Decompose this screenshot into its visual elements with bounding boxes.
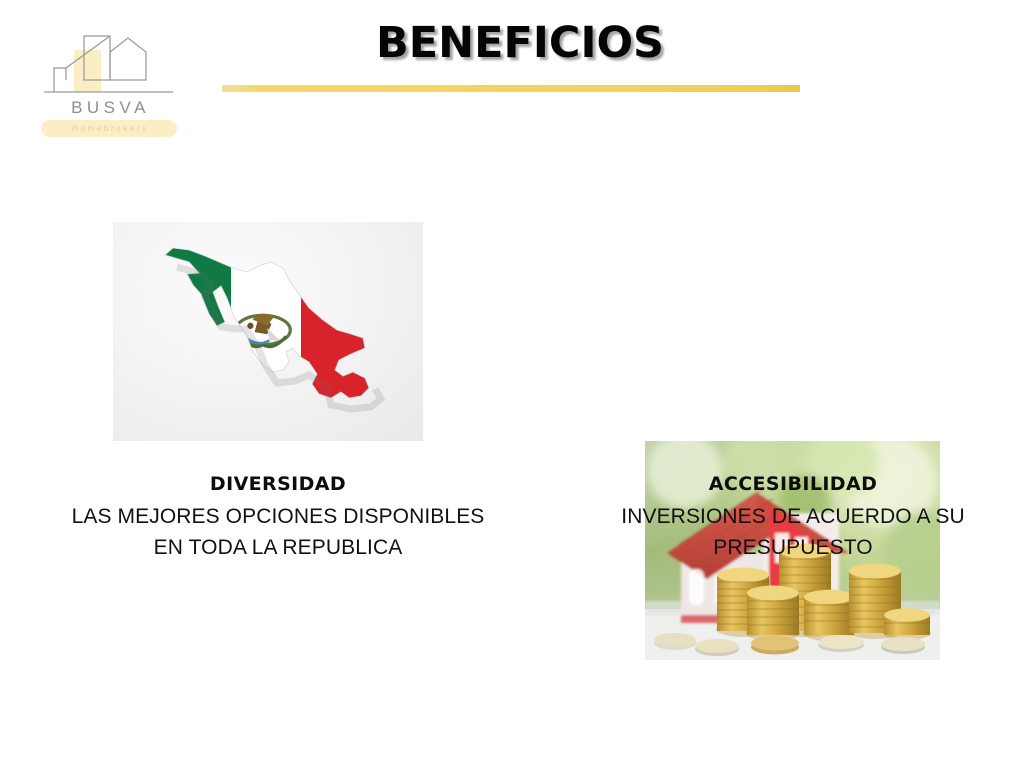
benefit-heading: ACCESIBILIDAD <box>560 473 1024 495</box>
benefit-body-line: PRESUPUESTO <box>560 532 1024 563</box>
benefit-body-line: EN TODA LA REPUBLICA <box>18 532 538 563</box>
page-title: BENEFICIOS <box>180 18 860 68</box>
benefit-caption-accesibilidad: ACCESIBILIDAD INVERSIONES DE ACUERDO A S… <box>560 473 1024 563</box>
logo-wordmark: BUSVA <box>36 98 181 118</box>
benefit-body: LAS MEJORES OPCIONES DISPONIBLES EN TODA… <box>18 501 538 563</box>
benefit-body-line: LAS MEJORES OPCIONES DISPONIBLES <box>18 501 538 532</box>
benefit-caption-diversidad: DIVERSIDAD LAS MEJORES OPCIONES DISPONIB… <box>18 473 538 563</box>
benefit-body: INVERSIONES DE ACUERDO A SU PRESUPUESTO <box>560 501 1024 563</box>
brand-logo[interactable]: BUSVA Homebrokers <box>36 24 181 144</box>
title-underline-rule <box>222 85 800 92</box>
benefit-heading: DIVERSIDAD <box>18 473 538 495</box>
logo-tagline: Homebrokers <box>41 121 177 137</box>
mexico-map-flag-image <box>113 222 423 441</box>
slide-canvas: BUSVA Homebrokers BENEFICIOS <box>0 0 1024 768</box>
building-outline-icon <box>36 24 181 102</box>
benefit-body-line: INVERSIONES DE ACUERDO A SU <box>560 501 1024 532</box>
